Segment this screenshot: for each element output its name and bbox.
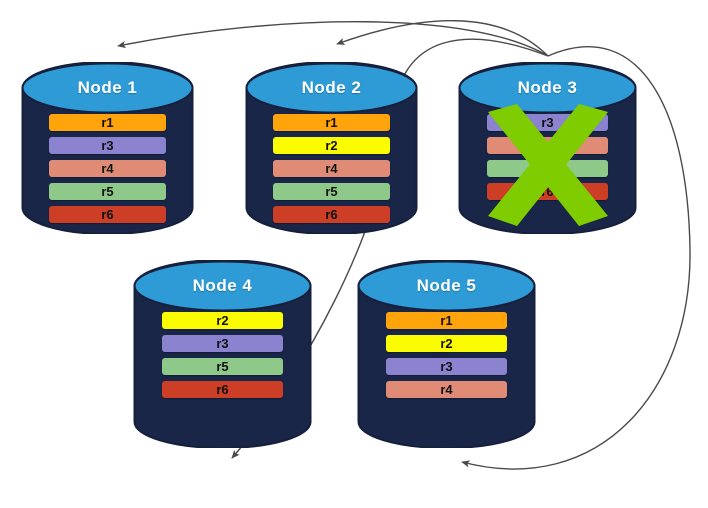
record-r2[interactable]: r2 <box>273 137 390 154</box>
cylinder-top-disc <box>359 262 535 311</box>
record-r4[interactable]: r4 <box>487 137 608 154</box>
record-r5[interactable]: r5 <box>273 183 390 200</box>
record-r6[interactable]: r6 <box>162 381 283 398</box>
record-r1[interactable]: r1 <box>273 114 390 131</box>
node-5[interactable]: Node 5r1r2r3r4 <box>357 260 536 448</box>
record-r5[interactable]: r5 <box>162 358 283 375</box>
record-r3[interactable]: r3 <box>386 358 507 375</box>
record-r5[interactable]: r5 <box>49 183 166 200</box>
record-r4[interactable]: r4 <box>386 381 507 398</box>
cylinder-top-disc <box>460 64 636 113</box>
cylinder-top-disc <box>247 64 417 113</box>
record-r4[interactable]: r4 <box>49 160 166 177</box>
node-4-records: r2r3r5r6 <box>133 312 312 398</box>
record-r5[interactable]: r5 <box>487 160 608 177</box>
record-r2[interactable]: r2 <box>162 312 283 329</box>
record-r1[interactable]: r1 <box>49 114 166 131</box>
record-r3[interactable]: r3 <box>162 335 283 352</box>
node-3-records: r3r4r5r6 <box>458 114 637 200</box>
node-2-records: r1r2r4r5r6 <box>245 114 418 223</box>
node-1[interactable]: Node 1r1r3r4r5r6 <box>21 62 194 234</box>
record-r3[interactable]: r3 <box>49 137 166 154</box>
arrow-node3-to-node2 <box>337 21 548 56</box>
cylinder-top-disc <box>23 64 193 113</box>
record-r4[interactable]: r4 <box>273 160 390 177</box>
diagram-canvas: Node 1r1r3r4r5r6Node 2r1r2r4r5r6Node 3r3… <box>0 0 708 508</box>
node-1-records: r1r3r4r5r6 <box>21 114 194 223</box>
record-r6[interactable]: r6 <box>273 206 390 223</box>
record-r3[interactable]: r3 <box>487 114 608 131</box>
arrow-node3-to-node1 <box>118 22 548 56</box>
record-r1[interactable]: r1 <box>386 312 507 329</box>
cylinder-top-disc <box>135 262 311 311</box>
record-r6[interactable]: r6 <box>49 206 166 223</box>
record-r6[interactable]: r6 <box>487 183 608 200</box>
node-2[interactable]: Node 2r1r2r4r5r6 <box>245 62 418 234</box>
node-5-records: r1r2r3r4 <box>357 312 536 398</box>
node-4[interactable]: Node 4r2r3r5r6 <box>133 260 312 448</box>
record-r2[interactable]: r2 <box>386 335 507 352</box>
node-3[interactable]: Node 3r3r4r5r6 <box>458 62 637 234</box>
